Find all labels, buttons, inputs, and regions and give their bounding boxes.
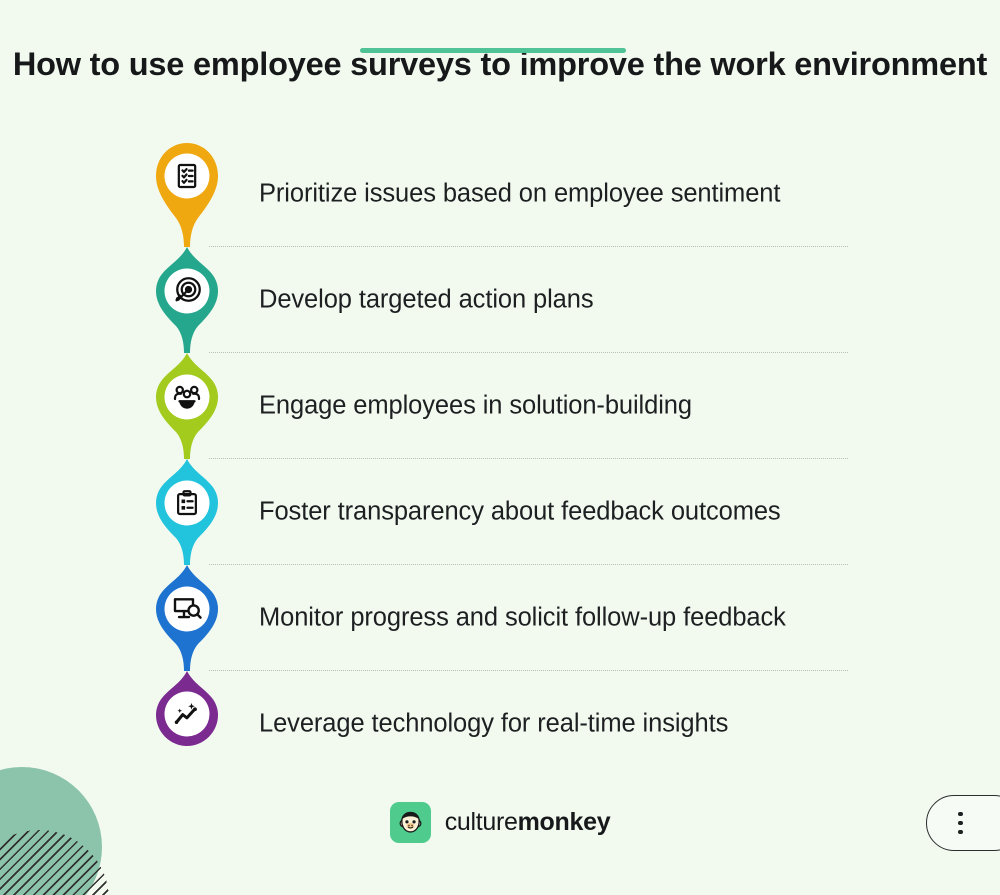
step-label: Leverage technology for real-time insigh…: [259, 710, 728, 739]
step-label: Monitor progress and solicit follow-up f…: [259, 604, 786, 633]
title-underline: [360, 48, 626, 53]
footer-logo: culturemonkey: [0, 802, 1000, 843]
target-arrow-icon: [172, 276, 202, 306]
checklist-icon: [172, 161, 202, 191]
step-label: Engage employees in solution-building: [259, 392, 692, 421]
step-marker: [151, 141, 223, 247]
step-marker: [151, 247, 223, 353]
step-marker: [151, 353, 223, 459]
step-marker: [151, 459, 223, 565]
pin-shape: [151, 141, 223, 247]
people-group-icon: [172, 382, 202, 412]
step-row: Leverage technology for real-time insigh…: [0, 671, 1000, 777]
brand-wordmark: culturemonkey: [445, 808, 611, 837]
step-label: Prioritize issues based on employee sent…: [259, 180, 780, 209]
step-row: Develop targeted action plans: [0, 247, 1000, 353]
step-label: Foster transparency about feedback outco…: [259, 498, 781, 527]
more-vertical-icon: [958, 812, 963, 835]
step-row: Engage employees in solution-building: [0, 353, 1000, 459]
brand-word-monkey: monkey: [518, 808, 611, 836]
step-row: Foster transparency about feedback outco…: [0, 459, 1000, 565]
step-row: Prioritize issues based on employee sent…: [0, 141, 1000, 247]
step-marker: [151, 565, 223, 671]
monkey-face-icon: [390, 802, 431, 843]
overflow-menu-button[interactable]: [926, 795, 1000, 851]
brand-word-culture: culture: [445, 808, 518, 836]
step-label: Develop targeted action plans: [259, 286, 594, 315]
trend-sparkle-icon: [172, 699, 202, 729]
clipboard-icon: [172, 488, 202, 518]
steps-list: Prioritize issues based on employee sent…: [0, 141, 1000, 777]
monitor-search-icon: [172, 594, 202, 624]
step-marker: [151, 671, 223, 777]
step-row: Monitor progress and solicit follow-up f…: [0, 565, 1000, 671]
